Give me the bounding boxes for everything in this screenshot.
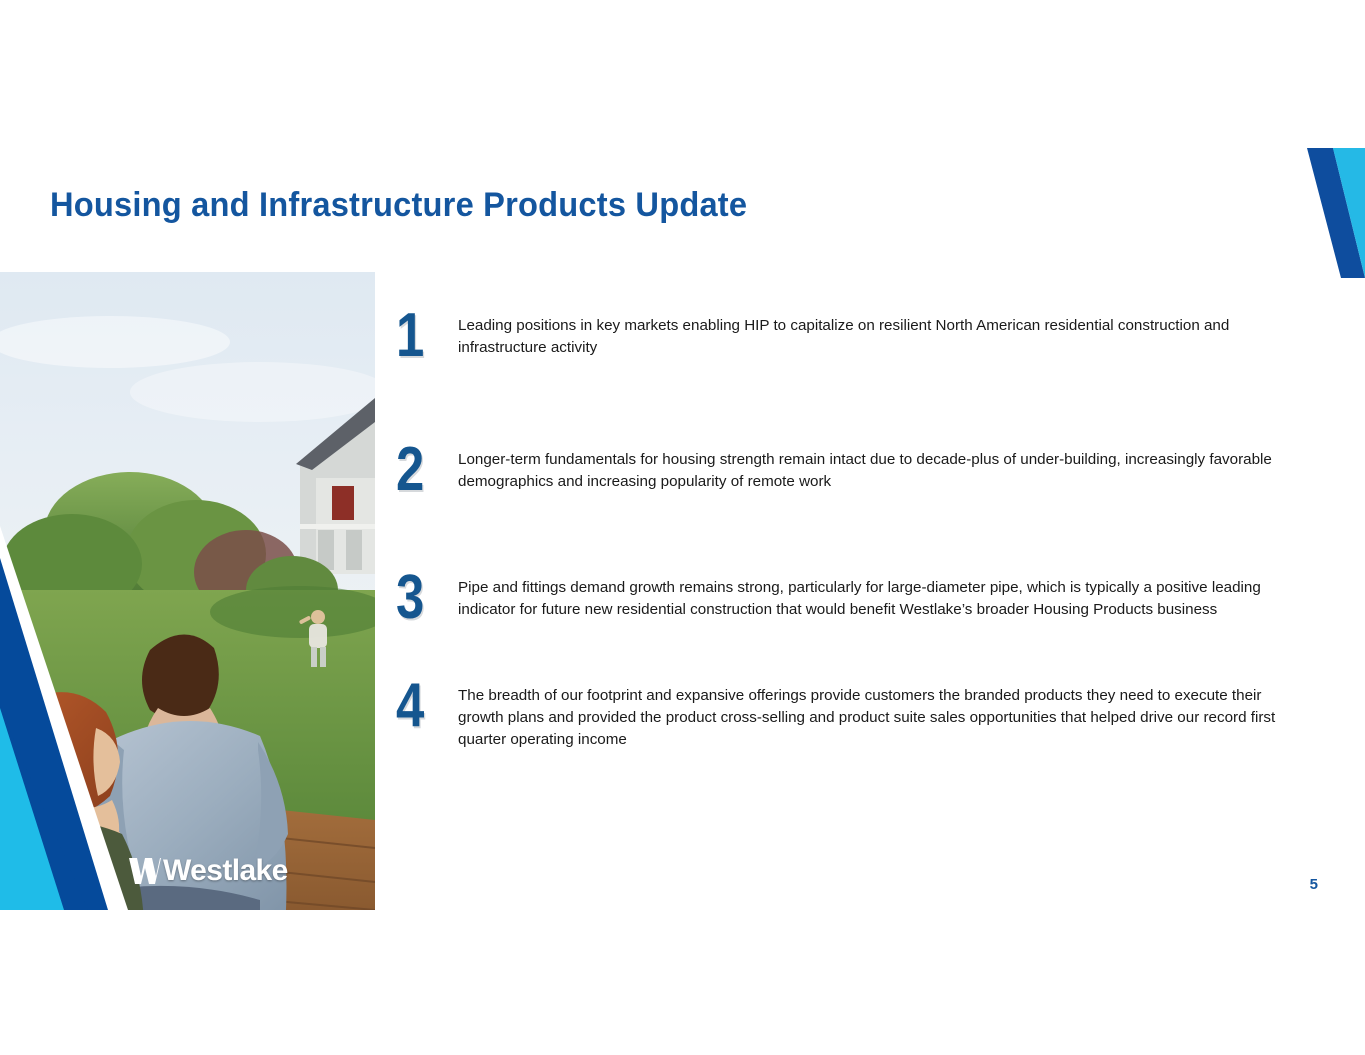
hero-photo-panel: Westlake [0,272,375,910]
westlake-wordmark: Westlake [163,856,288,886]
list-item: 3 Pipe and fittings demand growth remain… [396,567,1301,627]
westlake-w-icon [128,856,162,886]
point-number-3: 3 [396,569,447,627]
point-text-1: Leading positions in key markets enablin… [458,305,1301,359]
point-text-3: Pipe and fittings demand growth remains … [458,567,1301,621]
key-points-list: 1 Leading positions in key markets enabl… [396,305,1301,751]
page-title: Housing and Infrastructure Products Upda… [50,186,747,225]
list-item: 4 The breadth of our footprint and expan… [396,675,1301,751]
list-item: 1 Leading positions in key markets enabl… [396,305,1301,365]
corner-accent-graphic [1285,148,1365,280]
point-text-2: Longer-term fundamentals for housing str… [458,439,1301,493]
westlake-logo: Westlake [128,854,288,888]
list-item: 2 Longer-term fundamentals for housing s… [396,439,1301,499]
point-number-2: 2 [396,441,447,499]
point-text-4: The breadth of our footprint and expansi… [458,675,1301,751]
hero-photo [0,272,375,910]
point-number-1: 1 [396,307,447,365]
page-number: 5 [1310,876,1318,893]
point-number-4: 4 [396,677,447,735]
slide-canvas: Housing and Infrastructure Products Upda… [0,0,1365,1055]
